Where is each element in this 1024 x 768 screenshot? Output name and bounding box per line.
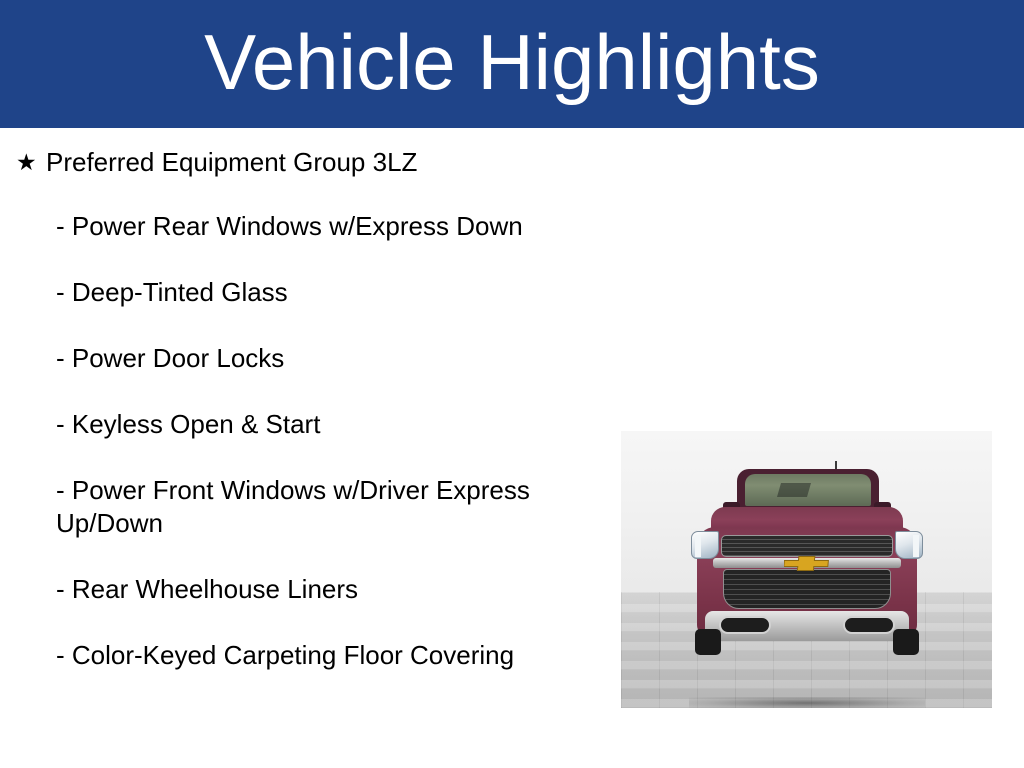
list-item: - Deep-Tinted Glass xyxy=(14,276,556,309)
primary-bullet-label: Preferred Equipment Group 3LZ xyxy=(46,145,574,179)
grille-lower xyxy=(723,569,891,609)
vehicle-photo xyxy=(621,431,992,708)
list-item: - Color-Keyed Carpeting Floor Covering xyxy=(14,639,556,672)
vehicle-shadow xyxy=(689,697,925,708)
list-item: - Keyless Open & Start xyxy=(14,408,556,441)
highlights-list: ★ Preferred Equipment Group 3LZ - Power … xyxy=(14,145,574,672)
grille-upper xyxy=(721,535,893,557)
tire-right xyxy=(893,629,919,655)
wiper xyxy=(776,483,810,497)
truck-front-illustration xyxy=(683,469,931,661)
list-item: - Power Rear Windows w/Express Down xyxy=(14,210,556,243)
list-item: - Rear Wheelhouse Liners xyxy=(14,573,556,606)
daytime-running-light-left xyxy=(695,535,701,557)
slide-content: ★ Preferred Equipment Group 3LZ - Power … xyxy=(0,128,1024,768)
vehicle-photo-canvas xyxy=(621,431,992,708)
list-item: - Power Door Locks xyxy=(14,342,556,375)
fog-light-left xyxy=(719,616,771,634)
tire-left xyxy=(695,629,721,655)
page-title: Vehicle Highlights xyxy=(204,23,820,101)
slide-title-bar: Vehicle Highlights xyxy=(0,0,1024,128)
primary-bullet-row: ★ Preferred Equipment Group 3LZ xyxy=(14,145,574,179)
daytime-running-light-right xyxy=(913,535,919,557)
chevrolet-bowtie-icon xyxy=(784,555,830,572)
equipment-sub-list: - Power Rear Windows w/Express Down - De… xyxy=(14,210,574,672)
list-item: - Power Front Windows w/Driver Express U… xyxy=(14,474,556,540)
list-item: ★ Preferred Equipment Group 3LZ - Power … xyxy=(14,145,574,672)
slide: Vehicle Highlights ★ Preferred Equipment… xyxy=(0,0,1024,768)
fog-light-right xyxy=(843,616,895,634)
star-bullet-icon: ★ xyxy=(14,145,46,179)
